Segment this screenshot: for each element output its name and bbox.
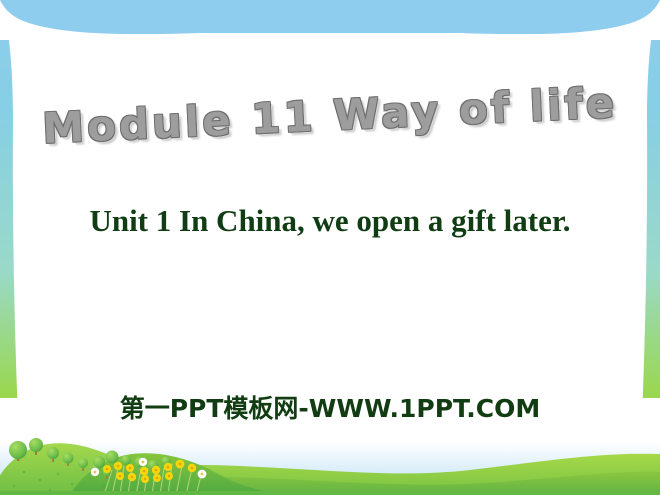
module-title: Module 11 Way of life: [0, 72, 660, 158]
tree: [78, 458, 88, 471]
flower: [116, 472, 124, 480]
bottom-green-strip: [0, 491, 660, 495]
flower: [139, 458, 147, 466]
flower: [126, 464, 134, 472]
flower-cluster: [91, 458, 207, 483]
flower: [91, 468, 99, 476]
flower: [128, 473, 136, 481]
tree-group-meadow: [93, 451, 171, 471]
flower: [140, 467, 148, 475]
presentation-slide: Module 11 Way of life Unit 1 In China, w…: [0, 0, 660, 495]
flower: [141, 475, 149, 483]
hill-left-front: [70, 453, 286, 495]
hill-back: [0, 454, 660, 495]
watermark-text: 第一PPT模板网-WWW.1PPT.COM: [0, 389, 660, 425]
hill-front: [0, 472, 660, 495]
tree: [47, 447, 59, 462]
flower: [176, 460, 185, 469]
flower: [103, 465, 111, 473]
tree: [29, 438, 43, 455]
tree: [9, 441, 27, 461]
unit-subtitle: Unit 1 In China, we open a gift later.: [0, 203, 660, 239]
flower: [198, 470, 207, 479]
flower: [164, 463, 172, 471]
grass-tufts: [13, 471, 106, 492]
flower: [152, 466, 160, 474]
module-title-text: Module 11 Way of life: [41, 77, 618, 152]
flower: [165, 472, 173, 480]
flower: [114, 462, 122, 470]
flower: [153, 474, 161, 482]
hill-left-back: [0, 443, 186, 495]
tree: [92, 464, 101, 476]
grass-stems: [104, 464, 202, 495]
tree: [63, 453, 74, 467]
flower: [188, 464, 196, 472]
tree: [103, 468, 111, 479]
tree-group-left: [9, 438, 111, 479]
